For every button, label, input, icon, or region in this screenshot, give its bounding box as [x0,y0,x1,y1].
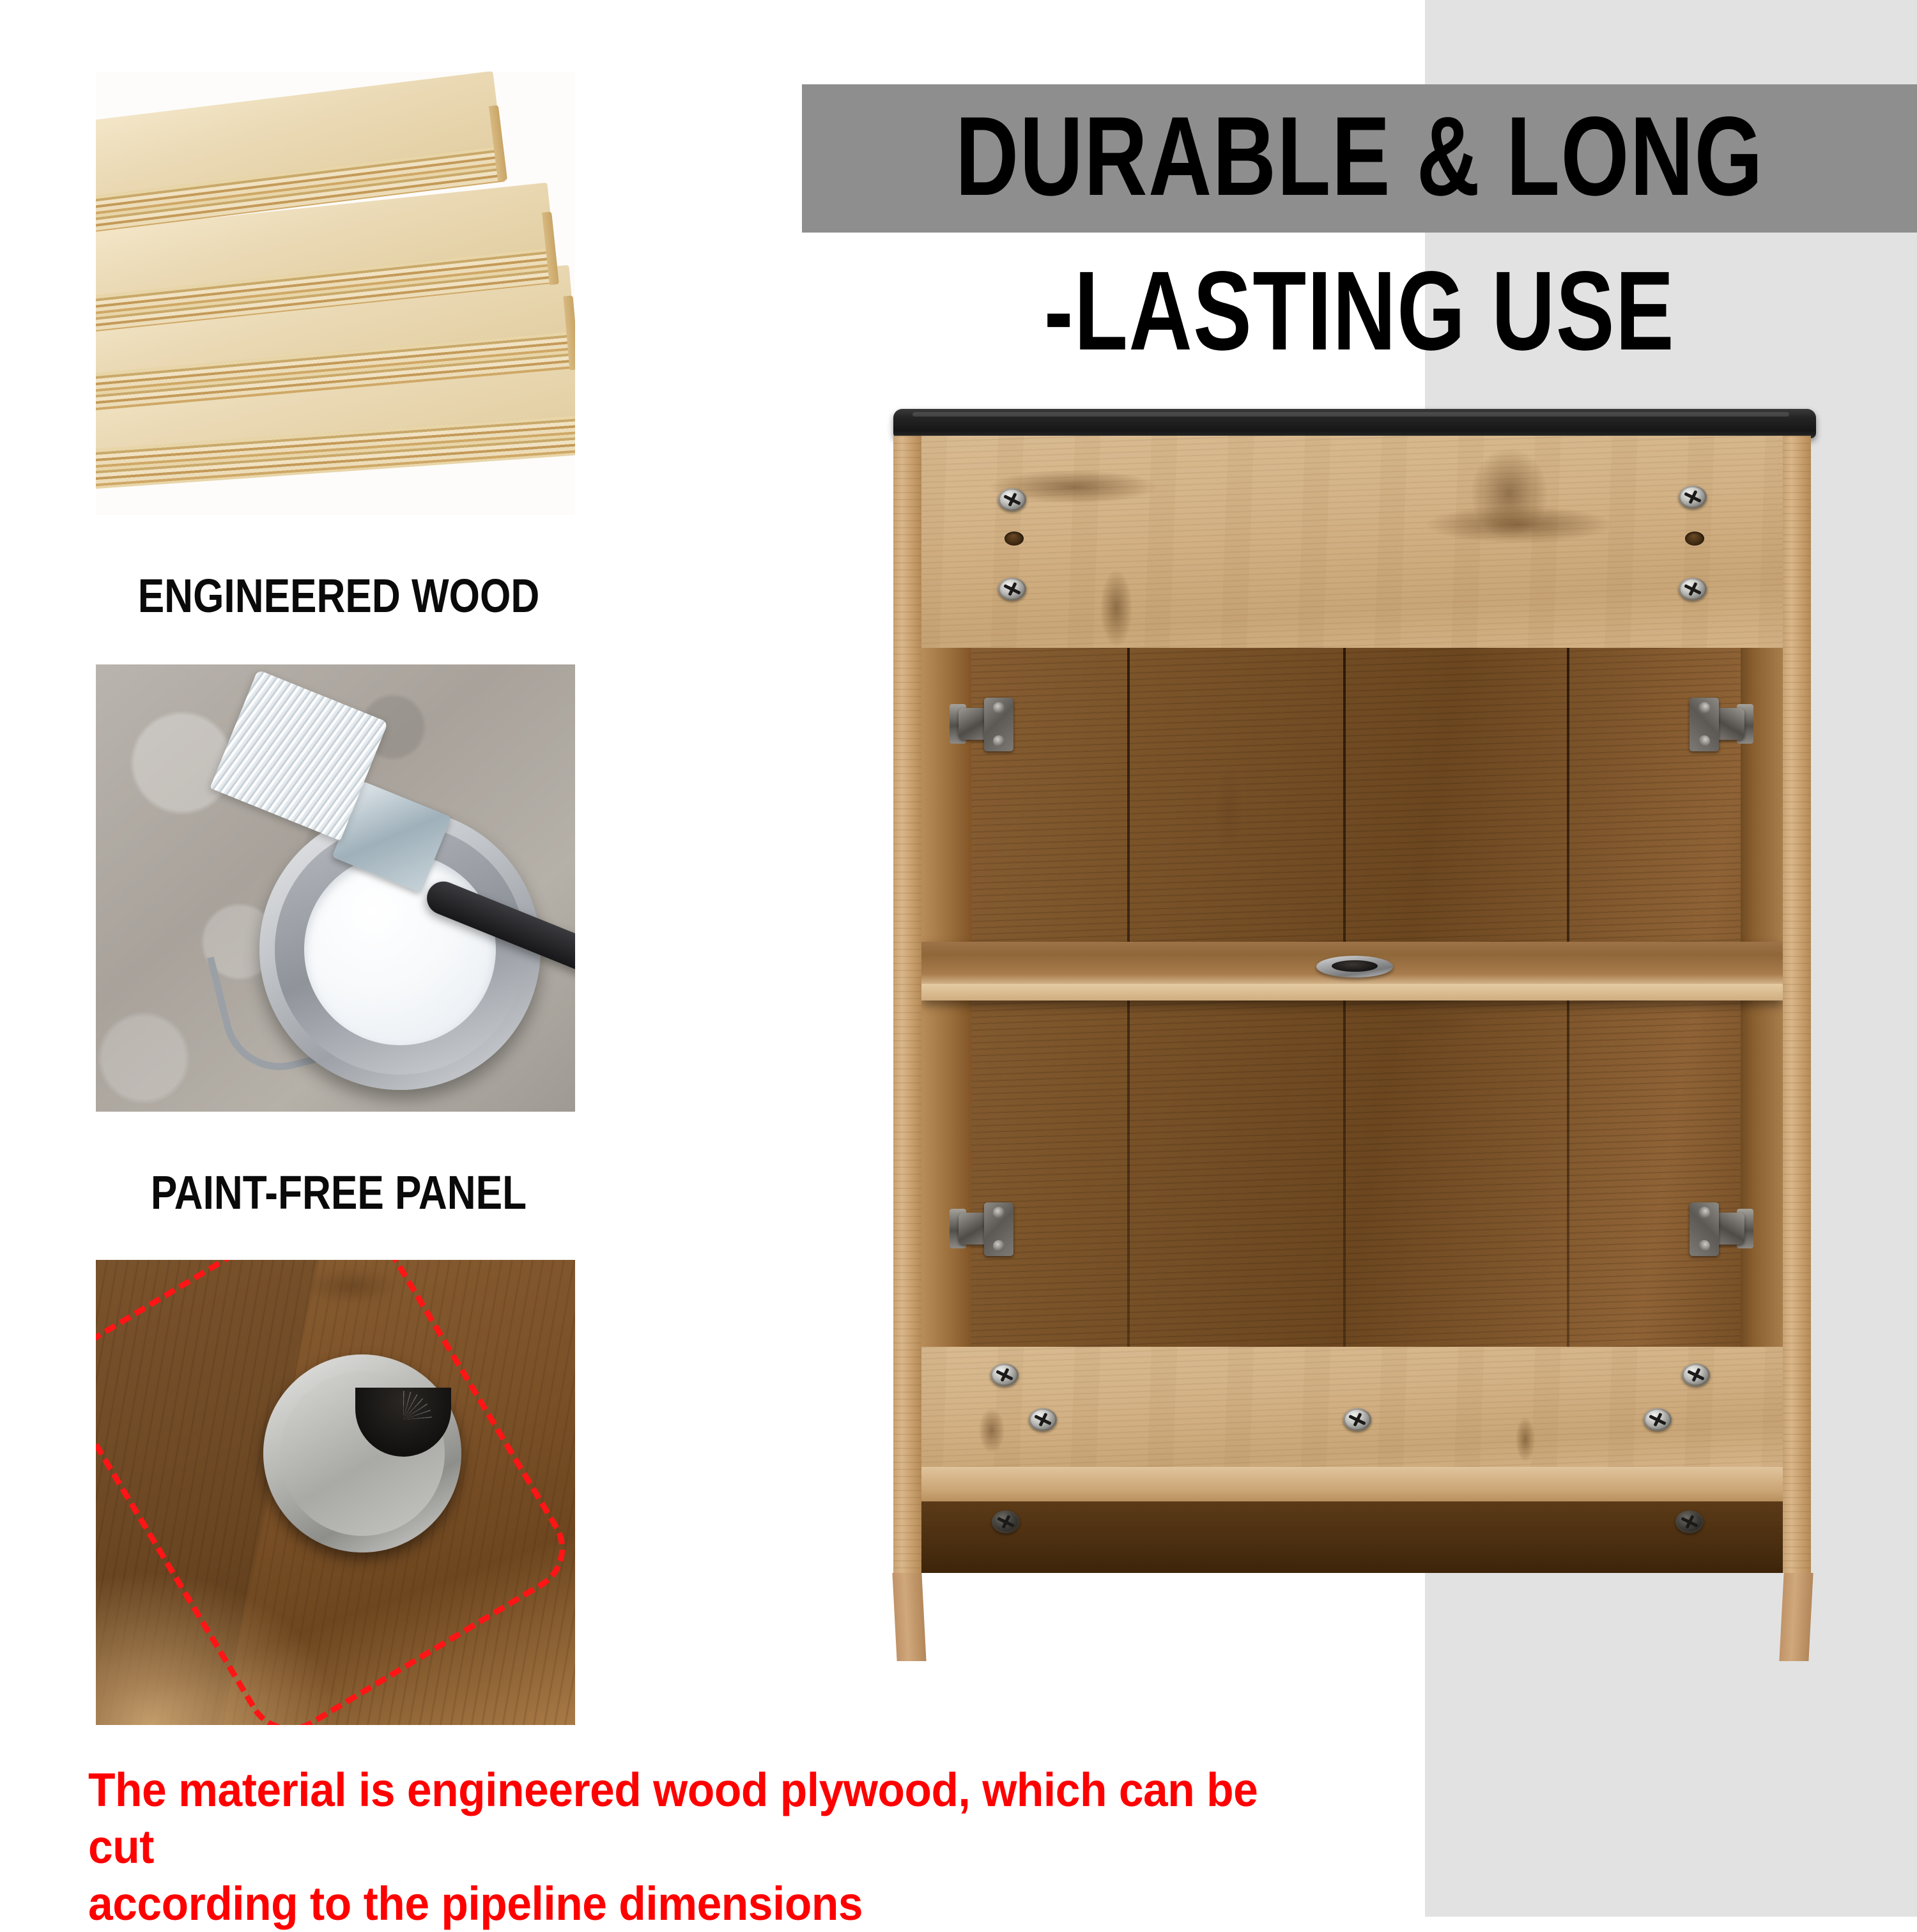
cam-lock-screw [990,1363,1019,1386]
wood-knot [1100,570,1132,647]
lower-right-hinge [1690,1200,1751,1259]
plywood-scene [96,72,575,515]
cam-lock-screw [1679,486,1707,509]
wood-knot [1369,1006,1497,1044]
feature-label-paint-free-panel: PAINT-FREE PANEL [135,1161,543,1223]
wood-knot [1426,506,1612,543]
dowel-hole [1005,532,1024,546]
plywood-stack-photo [96,72,575,515]
hinge-plate [984,1202,1013,1256]
cam-lock-screw [1682,1363,1710,1386]
lower-left-hinge [952,1200,1013,1259]
right-leg [1779,1573,1813,1661]
cam-lock-screw [998,578,1026,601]
cam-lock-screw [1343,1408,1371,1431]
shelf-front-edge [921,984,1783,1000]
wood-knot [979,1408,1005,1453]
product-cabinet [888,409,1815,1661]
screw-head [992,1510,1020,1533]
hinge-plate [1690,698,1719,751]
shelf-cable-grommet [1316,956,1393,977]
kick-rail [921,1467,1783,1501]
screw-head [1675,1510,1704,1533]
left-side-panel [893,436,921,1573]
bottom-oak-panel [921,1347,1783,1467]
upper-right-hinge [1690,695,1751,754]
headline-line-2: -LASTING USE [925,238,1794,385]
cam-lock-screw [1679,578,1707,601]
top-oak-panel [921,436,1783,648]
headline-line-1: DURABLE & LONG [925,80,1794,233]
dowel-hole [1685,532,1704,546]
cam-lock-screw [1029,1408,1057,1431]
cable-grommet-closeup-photo [96,1260,575,1725]
wood-surface-background [96,1260,575,1725]
hinge-plate [984,698,1013,751]
right-side-panel [1783,436,1811,1573]
paint-can-with-brush-photo [96,664,575,1112]
cam-lock-screw [998,488,1026,511]
concrete-background [96,664,575,1112]
toe-kick-recess [921,1501,1783,1573]
wood-knot [1210,750,1249,871]
black-countertop [893,409,1816,438]
red-caption-line-1: The material is engineered wood plywood,… [88,1762,1325,1876]
feature-label-engineered-wood: ENGINEERED WOOD [135,565,543,626]
middle-shelf [921,942,1783,1000]
cam-lock-screw [1644,1408,1672,1431]
red-caption-line-2: according to the pipeline dimensions [88,1876,1325,1932]
upper-left-hinge [952,695,1013,754]
red-caption-text: The material is engineered wood plywood,… [88,1762,1325,1932]
left-leg [892,1573,926,1661]
hinge-plate [1690,1202,1719,1256]
wood-knot [1516,1417,1535,1462]
